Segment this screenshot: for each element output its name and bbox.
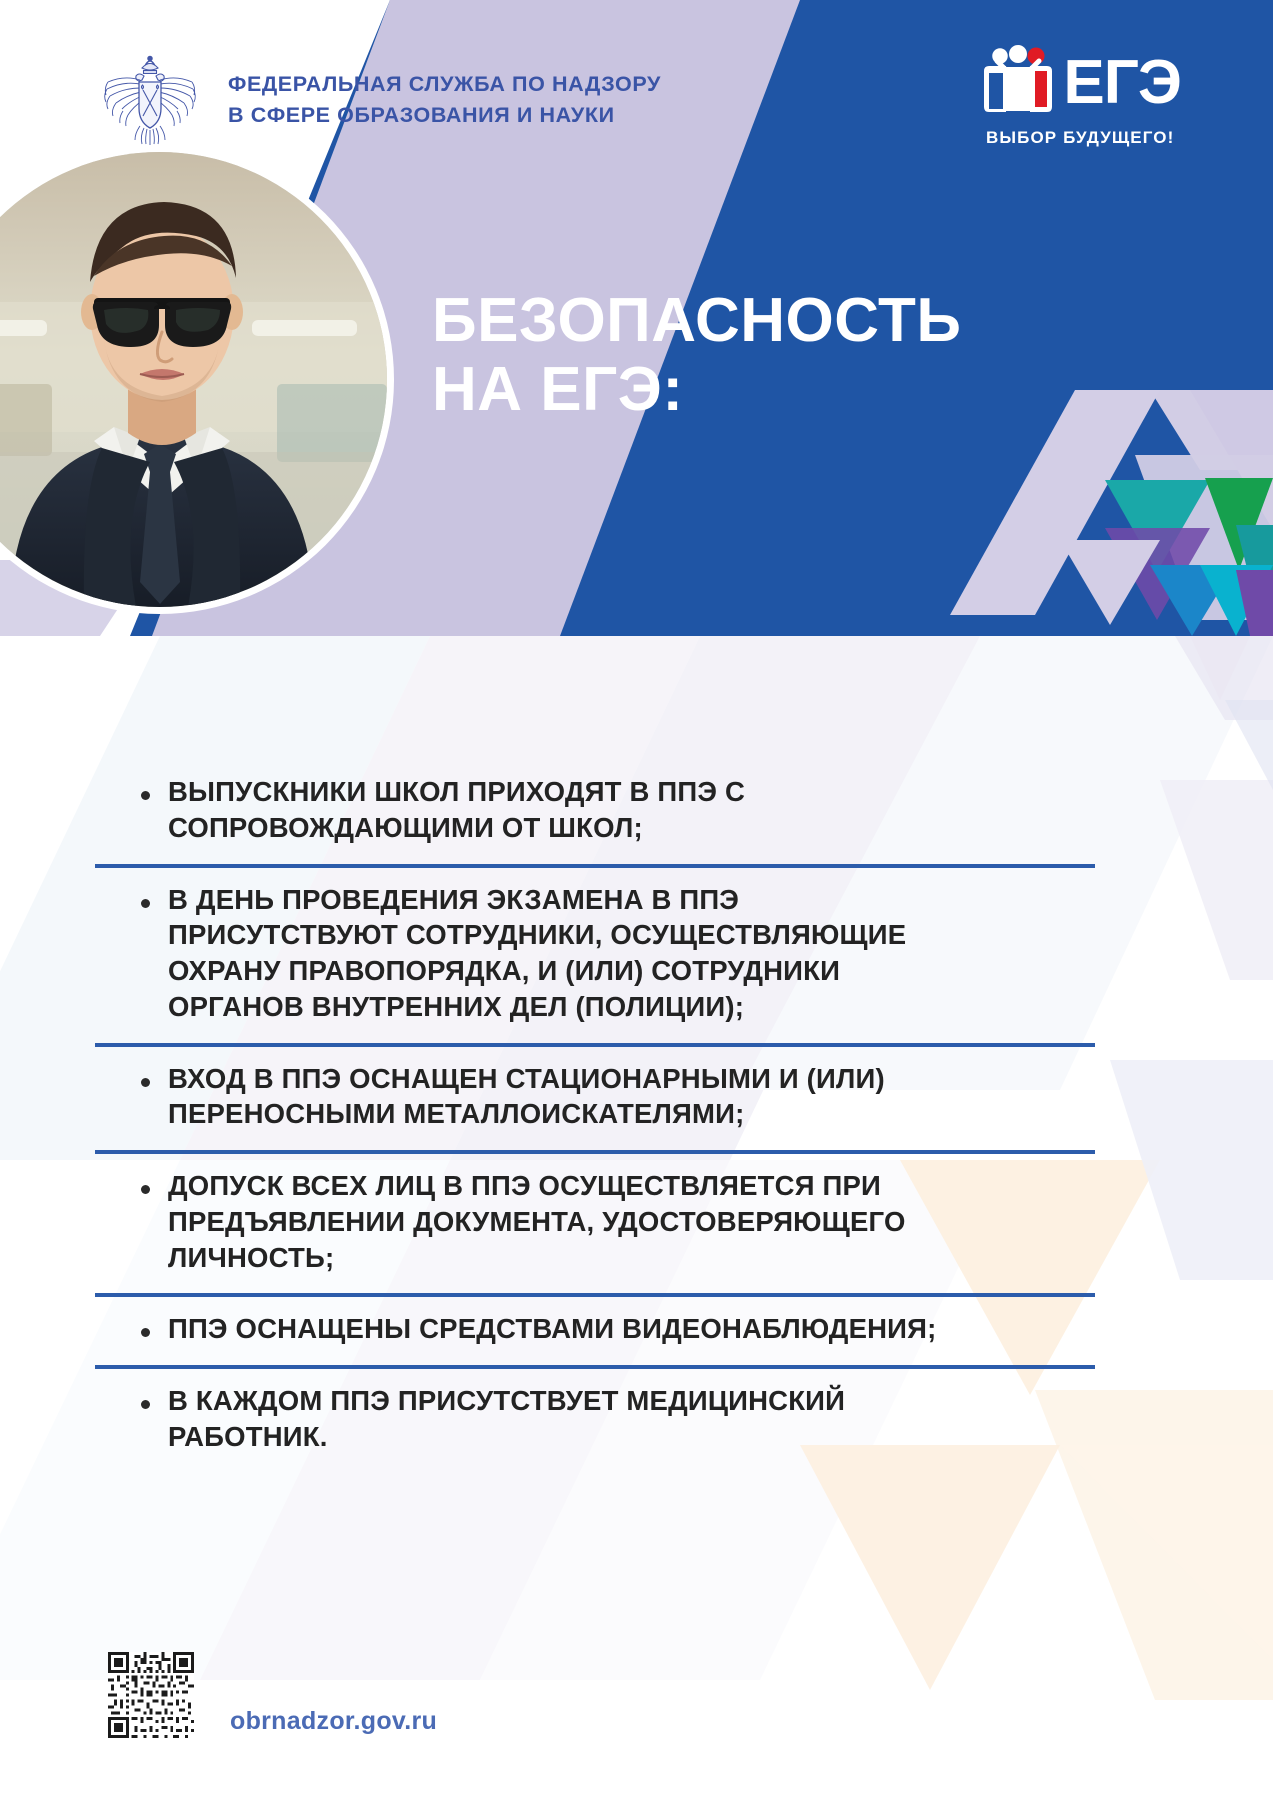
website-url[interactable]: obrnadzor.gov.ru — [230, 1707, 437, 1738]
list-item: В ДЕНЬ ПРОВЕДЕНИЯ ЭКЗАМЕНА В ППЭ ПРИСУТС… — [95, 868, 1095, 1043]
ege-letters: ЕГЭ — [1063, 54, 1181, 113]
footer: obrnadzor.gov.ru — [108, 1652, 437, 1738]
agency-name: ФЕДЕРАЛЬНАЯ СЛУЖБА ПО НАДЗОРУ В СФЕРЕ ОБ… — [228, 69, 661, 130]
ege-tagline: ВЫБОР БУДУЩЕГО! — [979, 128, 1181, 148]
bullet-dot-icon — [141, 791, 150, 800]
bullet-dot-icon — [141, 1400, 150, 1409]
poster-root: ФЕДЕРАЛЬНАЯ СЛУЖБА ПО НАДЗОРУ В СФЕРЕ ОБ… — [0, 0, 1273, 1800]
list-item: В КАЖДОМ ППЭ ПРИСУТСТВУЕТ МЕДИЦИНСКИЙ РА… — [95, 1369, 1095, 1473]
agency-name-line-1: ФЕДЕРАЛЬНАЯ СЛУЖБА ПО НАДЗОРУ — [228, 69, 661, 100]
list-item: ППЭ ОСНАЩЕНЫ СРЕДСТВАМИ ВИДЕОНАБЛЮДЕНИЯ; — [95, 1297, 1095, 1365]
agency-branding: ФЕДЕРАЛЬНАЯ СЛУЖБА ПО НАДЗОРУ В СФЕРЕ ОБ… — [96, 54, 661, 146]
list-item: ВЫПУСКНИКИ ШКОЛ ПРИХОДЯТ В ППЭ С СОПРОВО… — [95, 760, 1095, 864]
page-title-line-2: НА ЕГЭ: — [432, 355, 1052, 424]
bullet-dot-icon — [141, 1328, 150, 1337]
list-item-text: ППЭ ОСНАЩЕНЫ СРЕДСТВАМИ ВИДЕОНАБЛЮДЕНИЯ; — [168, 1311, 936, 1347]
ege-logo-row: ЕГЭ — [979, 44, 1181, 122]
qr-code-icon[interactable] — [108, 1652, 194, 1738]
list-item-text: ВХОД В ППЭ ОСНАЩЕН СТАЦИОНАРНЫМИ И (ИЛИ)… — [168, 1061, 938, 1133]
rosobrnadzor-emblem-icon — [96, 54, 204, 146]
ege-people-mark-icon — [979, 45, 1059, 121]
list-item-text: В ДЕНЬ ПРОВЕДЕНИЯ ЭКЗАМЕНА В ППЭ ПРИСУТС… — [168, 882, 938, 1025]
list-item-text: ДОПУСК ВСЕХ ЛИЦ В ППЭ ОСУЩЕСТВЛЯЕТСЯ ПРИ… — [168, 1168, 938, 1275]
page-title-line-1: БЕЗОПАСНОСТЬ — [432, 286, 1052, 355]
agency-name-line-2: В СФЕРЕ ОБРАЗОВАНИЯ И НАУКИ — [228, 100, 661, 131]
list-item: ДОПУСК ВСЕХ ЛИЦ В ППЭ ОСУЩЕСТВЛЯЕТСЯ ПРИ… — [95, 1154, 1095, 1293]
list-item: ВХОД В ППЭ ОСНАЩЕН СТАЦИОНАРНЫМИ И (ИЛИ)… — [95, 1047, 1095, 1151]
bullet-dot-icon — [141, 899, 150, 908]
list-item-text: ВЫПУСКНИКИ ШКОЛ ПРИХОДЯТ В ППЭ С СОПРОВО… — [168, 774, 938, 846]
bullet-dot-icon — [141, 1185, 150, 1194]
page-title: БЕЗОПАСНОСТЬ НА ЕГЭ: — [432, 286, 1052, 425]
bullet-dot-icon — [141, 1078, 150, 1087]
ege-logo: ЕГЭ ВЫБОР БУДУЩЕГО! — [979, 44, 1181, 148]
list-item-text: В КАЖДОМ ППЭ ПРИСУТСТВУЕТ МЕДИЦИНСКИЙ РА… — [168, 1383, 938, 1455]
requirements-list: ВЫПУСКНИКИ ШКОЛ ПРИХОДЯТ В ППЭ С СОПРОВО… — [95, 760, 1095, 1473]
